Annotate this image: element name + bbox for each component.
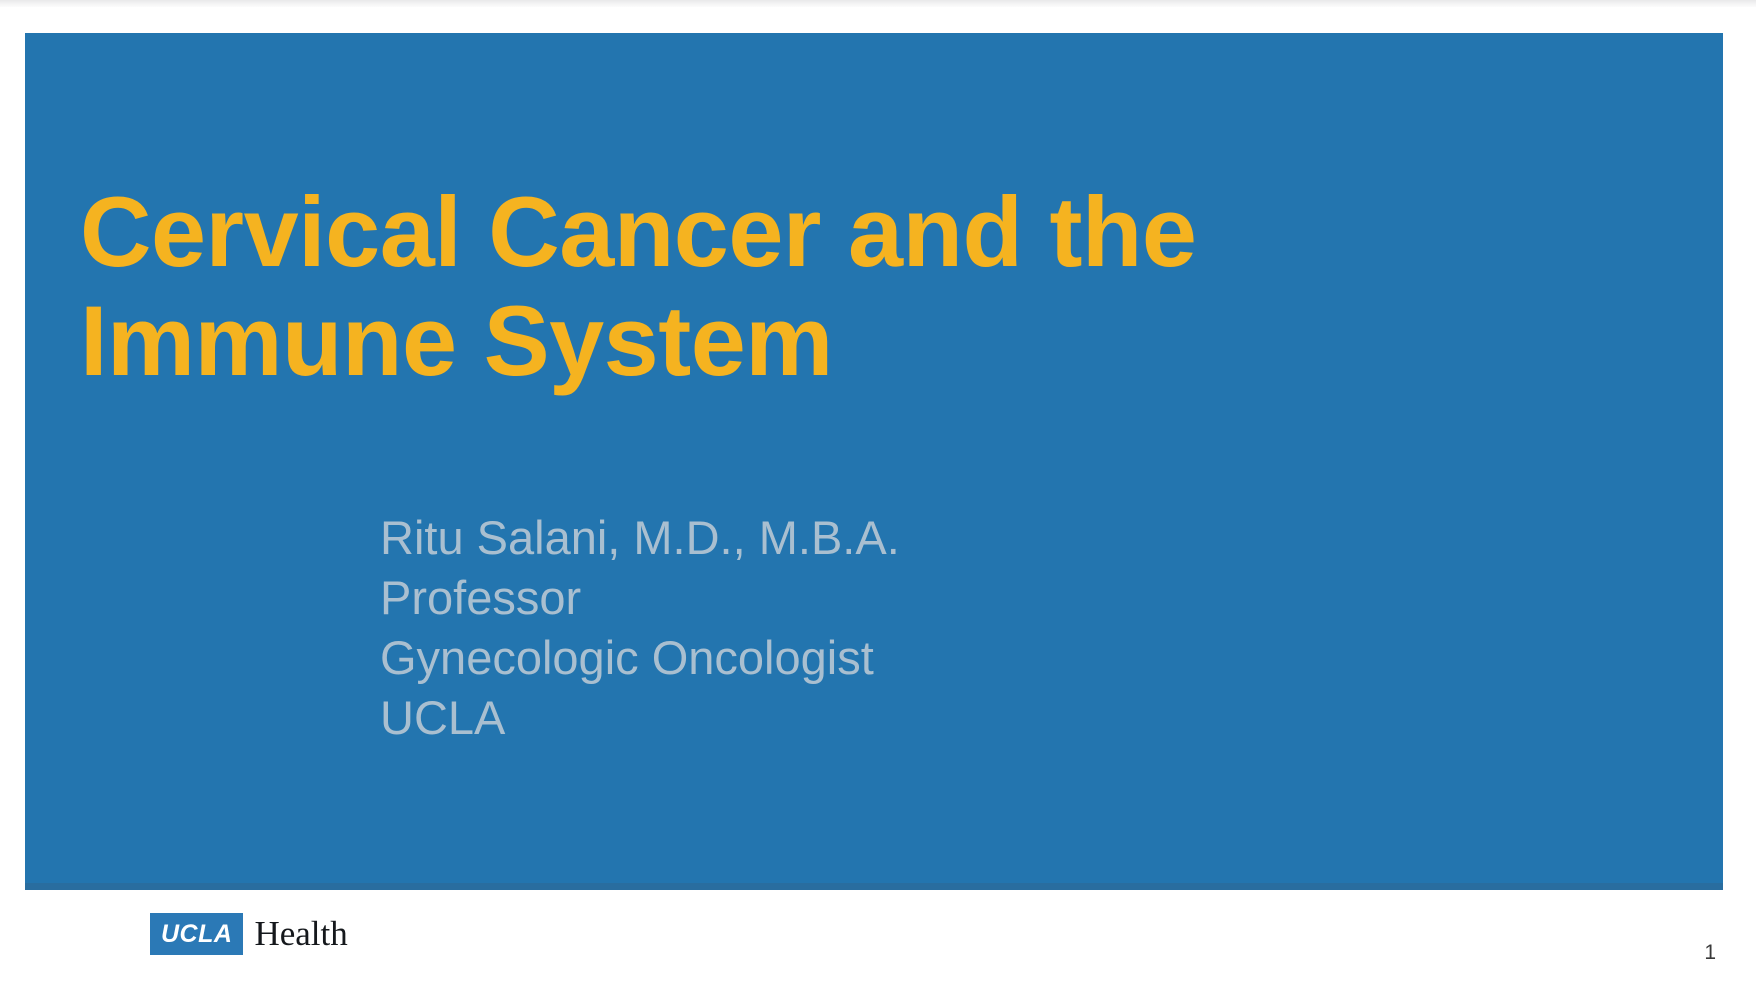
slide-title: Cervical Cancer and the Immune System xyxy=(80,178,1480,396)
presenter-institution: UCLA xyxy=(380,688,1280,748)
presenter-block: Ritu Salani, M.D., M.B.A. Professor Gyne… xyxy=(380,508,1280,749)
slide-footer: UCLA Health 1 xyxy=(0,890,1756,1006)
ucla-health-logo: UCLA Health xyxy=(150,913,348,955)
ucla-wordmark: UCLA xyxy=(161,922,232,947)
slide-canvas: Cervical Cancer and the Immune System Ri… xyxy=(25,33,1723,890)
presenter-specialty: Gynecologic Oncologist xyxy=(380,628,1280,688)
page-number: 1 xyxy=(1704,942,1716,963)
ucla-logo-box: UCLA xyxy=(150,913,243,955)
slide-viewer: Cervical Cancer and the Immune System Ri… xyxy=(0,0,1756,1006)
top-chrome-strip xyxy=(0,0,1756,7)
presenter-name: Ritu Salani, M.D., M.B.A. xyxy=(380,508,1280,568)
presenter-rank: Professor xyxy=(380,568,1280,628)
health-wordmark: Health xyxy=(254,913,347,955)
